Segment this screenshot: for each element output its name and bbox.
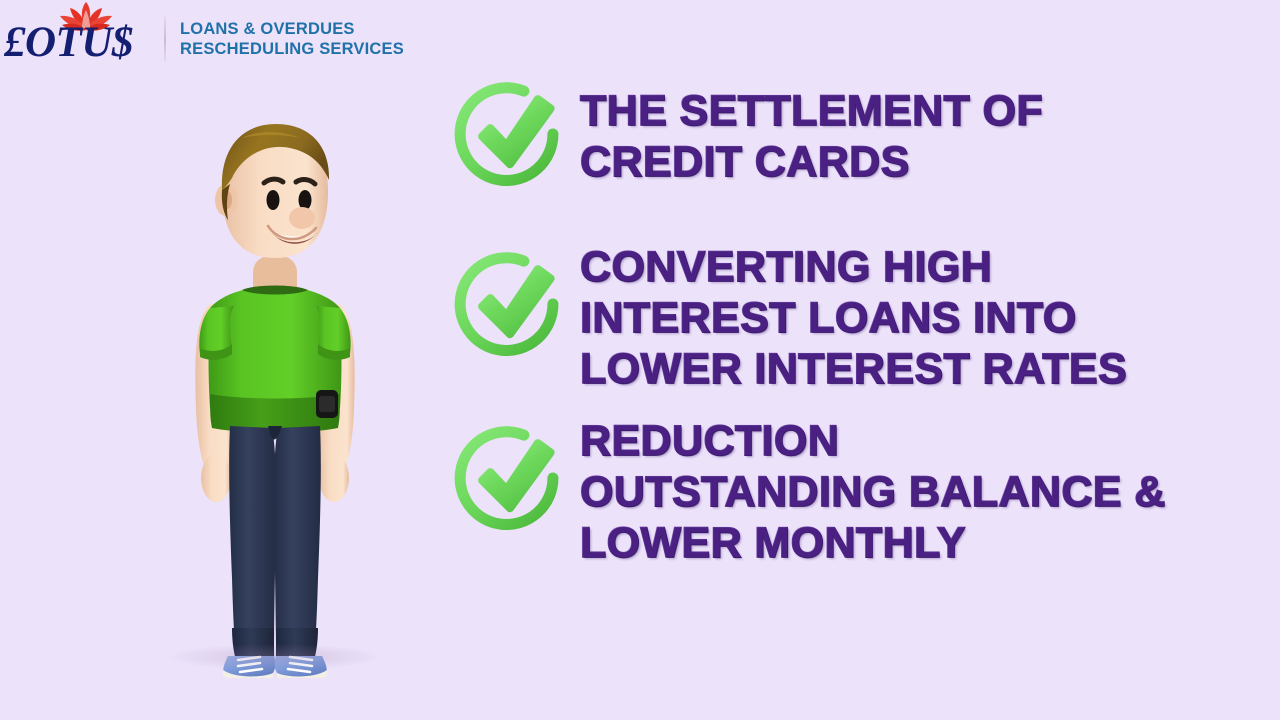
list-item-text: CONVERTING HIGH INTEREST LOANS INTO LOWE… — [580, 242, 1127, 395]
character-illustration — [150, 108, 400, 678]
list-item: REDUCTION OUTSTANDING BALANCE & LOWER MO… — [452, 414, 1166, 569]
logo-mark: £OTU$ — [0, 0, 158, 78]
character-ground-shadow — [170, 644, 380, 670]
character-figure — [150, 108, 400, 678]
list-item: THE SETTLEMENT OF CREDIT CARDS — [452, 76, 1043, 192]
logo-wordmark: £OTU$ — [4, 18, 156, 68]
green-check-circle-icon — [452, 420, 568, 536]
logo-divider — [164, 16, 166, 62]
green-check-circle-icon — [452, 76, 568, 192]
list-item-text: REDUCTION OUTSTANDING BALANCE & LOWER MO… — [580, 416, 1166, 569]
logo-tagline-line-2: RESCHEDULING SERVICES — [180, 39, 404, 59]
logo-tagline: LOANS & OVERDUES RESCHEDULING SERVICES — [180, 19, 404, 59]
list-item: CONVERTING HIGH INTEREST LOANS INTO LOWE… — [452, 240, 1127, 395]
list-item-text: THE SETTLEMENT OF CREDIT CARDS — [580, 86, 1043, 188]
logo-tagline-line-1: LOANS & OVERDUES — [180, 19, 404, 39]
benefits-list: THE SETTLEMENT OF CREDIT CARDS CONVERTIN… — [452, 62, 1272, 582]
brand-logo: £OTU$ LOANS & OVERDUES RESCHEDULING SERV… — [0, 0, 440, 78]
green-check-circle-icon — [452, 246, 568, 362]
